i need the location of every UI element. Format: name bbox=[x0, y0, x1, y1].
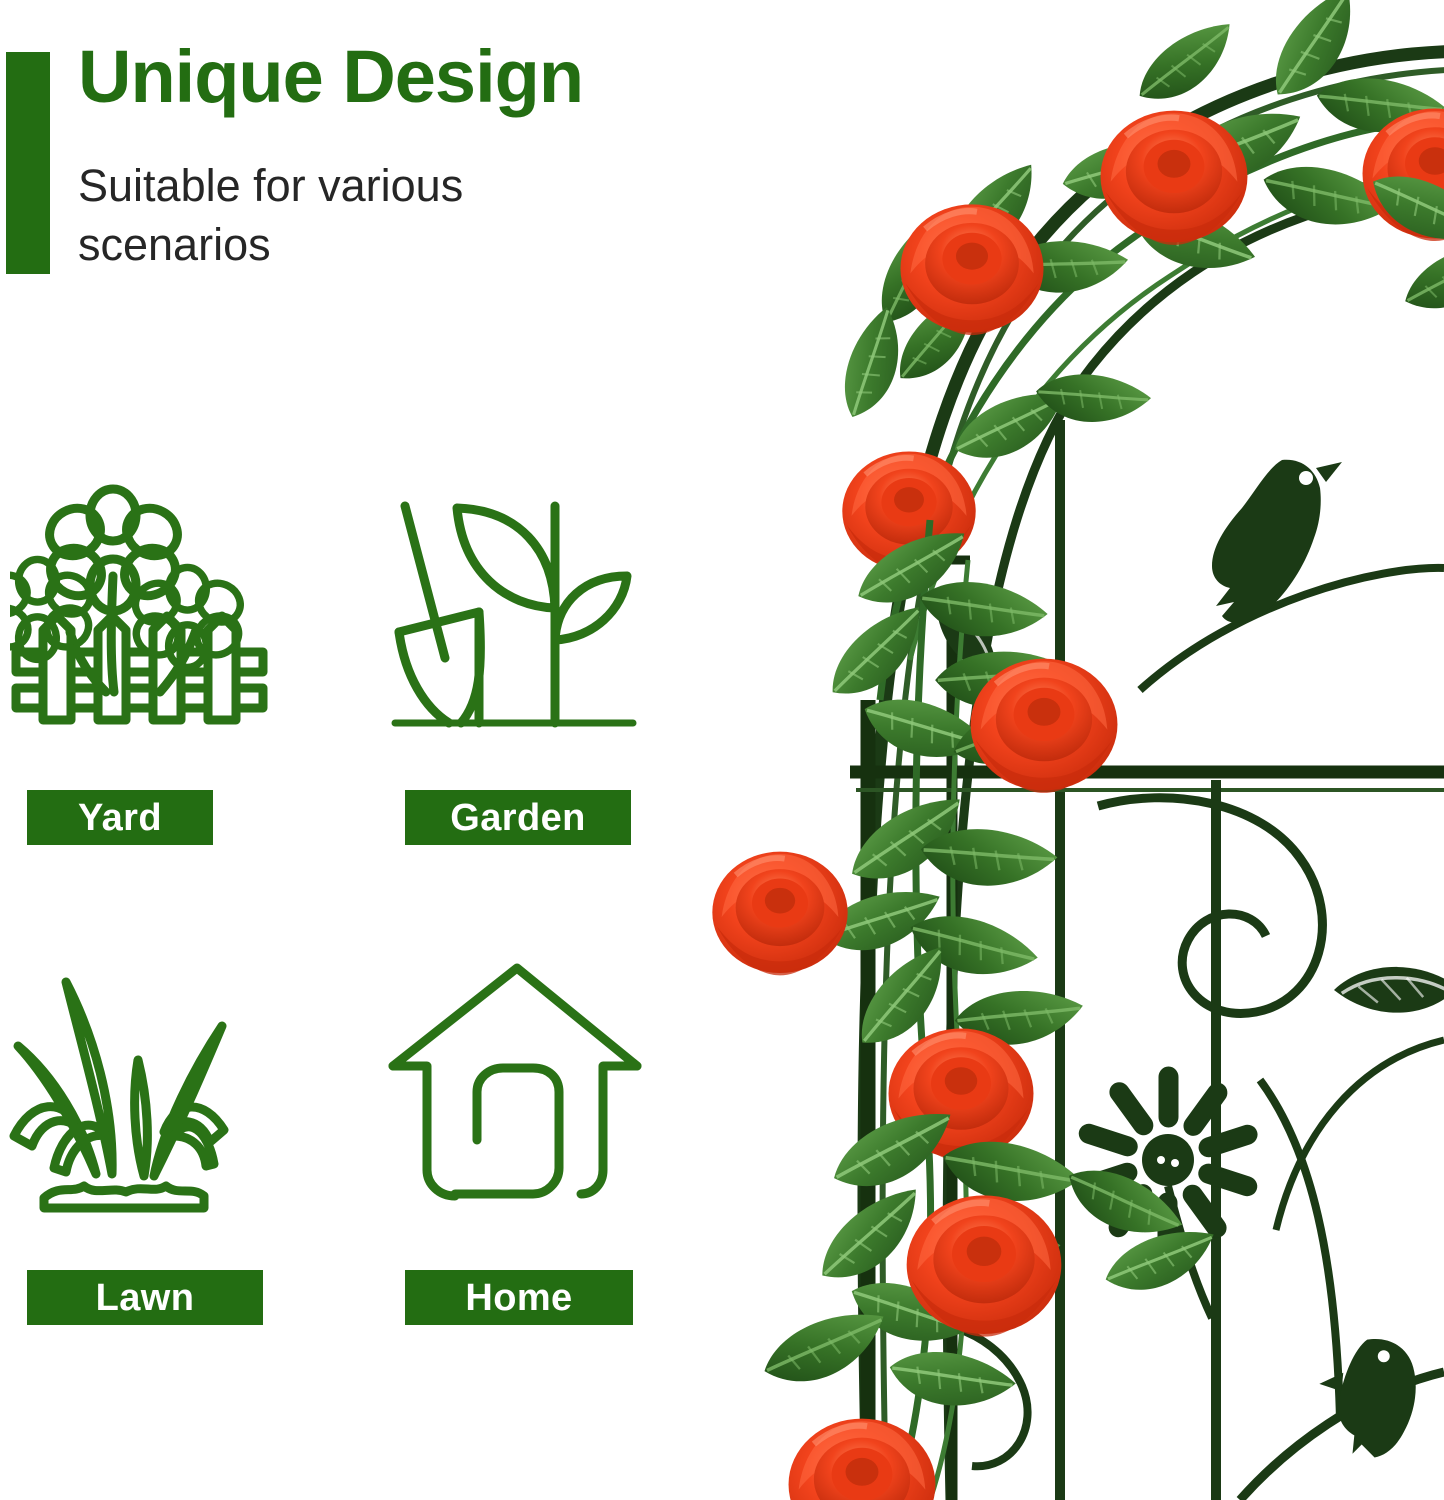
scenario-label-yard: Yard bbox=[78, 799, 162, 837]
scenario-label-home: Home bbox=[465, 1279, 572, 1317]
scenario-badge-home[interactable]: Home bbox=[405, 1270, 633, 1325]
page-title: Unique Design bbox=[78, 40, 583, 114]
accent-bar bbox=[6, 52, 50, 274]
infographic-canvas: Unique Design Suitable for various scena… bbox=[0, 0, 1444, 1500]
grass-tuft-icon bbox=[0, 950, 290, 1260]
page-subtitle: Suitable for various scenarios bbox=[78, 156, 638, 275]
house-outline-icon bbox=[378, 950, 668, 1260]
scenario-label-garden: Garden bbox=[450, 799, 585, 837]
scenario-label-lawn: Lawn bbox=[96, 1279, 195, 1317]
trellis-illustration bbox=[700, 0, 1444, 1500]
shovel-sprout-icon bbox=[378, 470, 668, 780]
scenario-grid: Yard bbox=[0, 470, 700, 1370]
scenario-card-yard: Yard bbox=[0, 470, 330, 870]
scenario-badge-lawn[interactable]: Lawn bbox=[27, 1270, 263, 1325]
scenario-card-lawn: Lawn bbox=[0, 950, 330, 1350]
scenario-badge-yard[interactable]: Yard bbox=[27, 790, 213, 845]
scenario-card-garden: Garden bbox=[378, 470, 708, 870]
flowers-fence-icon bbox=[0, 470, 290, 780]
scenario-card-home: Home bbox=[378, 950, 708, 1350]
scenario-badge-garden[interactable]: Garden bbox=[405, 790, 631, 845]
header-block: Unique Design Suitable for various scena… bbox=[0, 46, 720, 286]
product-photo bbox=[700, 0, 1444, 1500]
